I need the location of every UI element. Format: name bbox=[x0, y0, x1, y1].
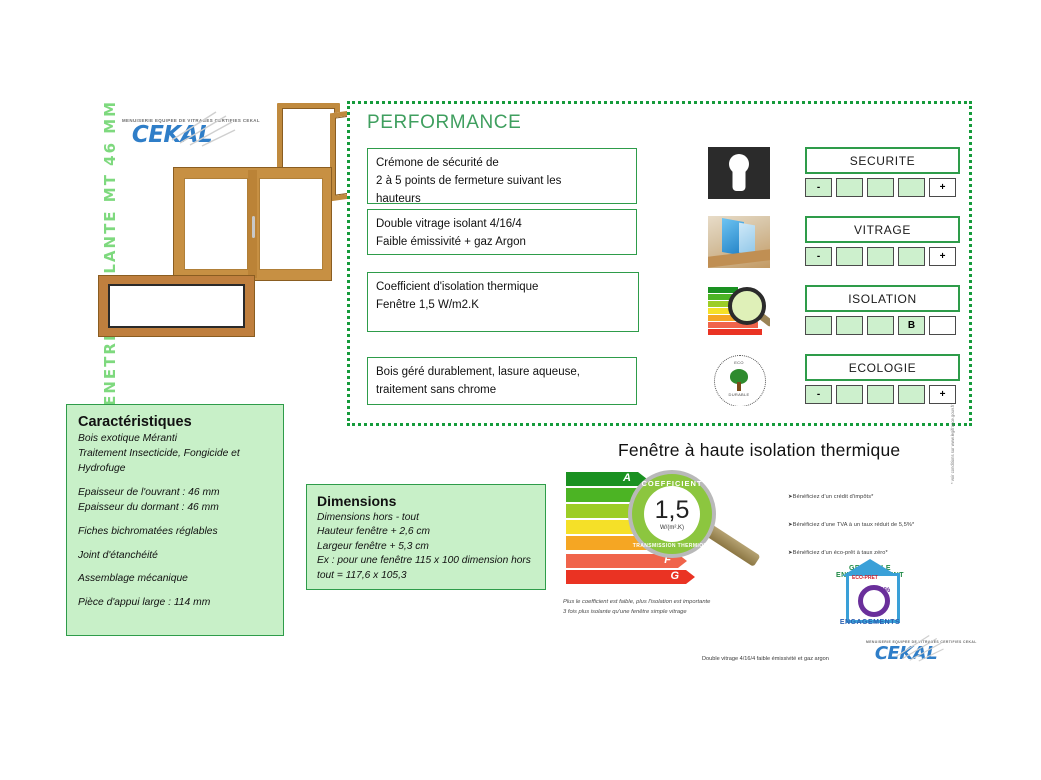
rating-cell[interactable]: + bbox=[929, 178, 956, 197]
glazing-note: Double vitrage 4/16/4 faible émissivité … bbox=[702, 656, 829, 662]
page-vertical-title: FENETRES ISOLANTE MT 46 MM bbox=[101, 99, 119, 419]
dimensions-title: Dimensions bbox=[317, 493, 535, 509]
dimensions-line: Ex : pour une fenêtre 115 x 100 dimensio… bbox=[317, 554, 535, 568]
performance-feature-box: Bois géré durablement, lasure aqueuse, t… bbox=[367, 357, 637, 405]
rating-cell[interactable] bbox=[898, 178, 925, 197]
coefficient-value-circle: 1,5 W/(m².K) bbox=[644, 486, 700, 542]
caracteristiques-panel: Caractéristiques Bois exotique Méranti T… bbox=[66, 404, 284, 636]
glazing-icon bbox=[708, 216, 770, 268]
caracteristiques-line: Pièce d'appui large : 114 mm bbox=[78, 596, 272, 611]
coefficient-value: 1,5 bbox=[655, 498, 690, 523]
eco-stamp-icon: ECO DURABLE bbox=[708, 354, 770, 406]
rating-cell-selected[interactable]: B bbox=[898, 316, 925, 335]
grenelle-environnement-logo: GRENELLE ENVIRONNEMENT ECO-PRET 0% ENGAG… bbox=[822, 557, 918, 633]
performance-feature-box: Crémone de sécurité de 2 à 5 points de f… bbox=[367, 148, 637, 204]
energy-magnifier-icon bbox=[708, 285, 770, 337]
rating-row-ecologie: ECO DURABLE ECOLOGIE - + bbox=[708, 354, 770, 406]
performance-panel: PERFORMANCE Crémone de sécurité de 2 à 5… bbox=[347, 101, 972, 426]
cekal-rays-icon bbox=[890, 634, 946, 664]
grenelle-word-bottom: ENGAGEMENTS bbox=[822, 619, 918, 626]
rating-cell[interactable] bbox=[898, 385, 925, 404]
coefficient-arc-top: COEFFICIENT bbox=[632, 479, 712, 488]
rating-cell[interactable] bbox=[805, 316, 832, 335]
rating-cell[interactable] bbox=[867, 316, 894, 335]
dimensions-line: Dimensions hors - tout bbox=[317, 511, 535, 525]
dimensions-line: tout = 117,6 x 105,3 bbox=[317, 569, 535, 583]
rating-label-isolation: ISOLATION bbox=[805, 285, 960, 312]
grenelle-percent: 0% bbox=[880, 587, 890, 594]
rating-cell[interactable] bbox=[867, 385, 894, 404]
cekal-rays-icon bbox=[166, 110, 236, 150]
eco-pret-label: ECO-PRET bbox=[852, 575, 878, 581]
rating-cell[interactable] bbox=[867, 247, 894, 266]
rating-row-vitrage: VITRAGE - + bbox=[708, 216, 770, 268]
window-double-casement-image bbox=[173, 167, 332, 281]
caracteristiques-line: Hydrofuge bbox=[78, 462, 272, 477]
window-transom-image bbox=[98, 275, 255, 337]
benefit-item: ➤Bénéficiez d'une TVA à un taux réduit d… bbox=[788, 522, 914, 528]
caracteristiques-line: Epaisseur de l'ouvrant : 46 mm bbox=[78, 486, 272, 501]
window-left-pane bbox=[184, 178, 248, 270]
rating-scale-isolation[interactable]: B bbox=[805, 316, 956, 335]
rating-label-ecologie: ECOLOGIE bbox=[805, 354, 960, 381]
rating-row-securite: SECURITE - + bbox=[708, 147, 770, 199]
rating-cell[interactable] bbox=[867, 178, 894, 197]
rating-cell[interactable]: + bbox=[929, 385, 956, 404]
legal-sidenote: * voir conditions sur www.legifrance.gou… bbox=[950, 404, 955, 484]
rating-scale-securite[interactable]: - + bbox=[805, 178, 956, 197]
window-handle-icon bbox=[252, 216, 255, 238]
caracteristiques-line: Bois exotique Méranti bbox=[78, 432, 272, 447]
performance-feature-box: Coefficient d'isolation thermique Fenêtr… bbox=[367, 272, 639, 332]
caracteristiques-line: Fiches bichromatées réglables bbox=[78, 525, 272, 540]
rating-cell[interactable] bbox=[836, 385, 863, 404]
cekal-logo-bottom: MENUISERIE EQUIPEE DE VITRAGES CERTIFIES… bbox=[866, 640, 946, 662]
rating-label-securite: SECURITE bbox=[805, 147, 960, 174]
window-right-pane bbox=[259, 178, 323, 270]
performance-feature-box: Double vitrage isolant 4/16/4 Faible émi… bbox=[367, 209, 637, 255]
rating-cell[interactable] bbox=[898, 247, 925, 266]
product-sheet-page: FENETRES ISOLANTE MT 46 MM MENUISERIE EQ… bbox=[0, 0, 1041, 780]
benefit-item: ➤Bénéficiez d'un crédit d'impôts* bbox=[788, 494, 914, 500]
rating-cell[interactable] bbox=[836, 316, 863, 335]
dimensions-line: Hauteur fenêtre + 2,6 cm bbox=[317, 525, 535, 539]
rating-cell[interactable] bbox=[929, 316, 956, 335]
rating-cell[interactable]: + bbox=[929, 247, 956, 266]
coefficient-unit: W/(m².K) bbox=[660, 525, 684, 531]
rating-cell[interactable] bbox=[836, 247, 863, 266]
caracteristiques-line: Traitement Insecticide, Fongicide et bbox=[78, 447, 272, 462]
energy-bar-letter: G bbox=[670, 570, 679, 582]
energy-bar-letter: A bbox=[623, 472, 631, 484]
energy-bar-a: A bbox=[566, 472, 638, 486]
rating-row-isolation: ISOLATION B bbox=[708, 285, 770, 337]
rating-cell[interactable]: - bbox=[805, 385, 832, 404]
benefit-item: ➤Bénéficiez d'un éco-prêt à taux zéro* bbox=[788, 550, 914, 556]
energy-bar-g: G bbox=[566, 570, 686, 584]
cekal-logo-top: MENUISERIE EQUIPEE DE VITRAGES CERTIFIES… bbox=[122, 118, 222, 146]
coefficient-magnifier: COEFFICIENT 1,5 W/(m².K) TRANSMISSION TH… bbox=[628, 470, 716, 558]
rating-cell[interactable]: - bbox=[805, 178, 832, 197]
rating-cell[interactable]: - bbox=[805, 247, 832, 266]
rating-scale-vitrage[interactable]: - + bbox=[805, 247, 956, 266]
dimensions-line: Largeur fenêtre + 5,3 cm bbox=[317, 540, 535, 554]
caracteristiques-line: Assemblage mécanique bbox=[78, 572, 272, 587]
caracteristiques-line: Epaisseur du dormant : 46 mm bbox=[78, 501, 272, 516]
rating-scale-ecologie[interactable]: - + bbox=[805, 385, 956, 404]
performance-title: PERFORMANCE bbox=[367, 112, 521, 134]
energy-label-caption: Plus le coefficient est faible, plus l'i… bbox=[563, 598, 710, 618]
caracteristiques-title: Caractéristiques bbox=[78, 414, 272, 430]
rating-label-vitrage: VITRAGE bbox=[805, 216, 960, 243]
thermal-section-title: Fenêtre à haute isolation thermique bbox=[618, 440, 900, 461]
coefficient-arc-bottom: TRANSMISSION THERMIQUE bbox=[632, 543, 712, 549]
keyhole-icon bbox=[708, 147, 770, 199]
window-transom-glass bbox=[108, 284, 245, 328]
energy-caption-line: Plus le coefficient est faible, plus l'i… bbox=[563, 598, 710, 608]
energy-caption-line: 3 fois plus isolante qu'une fenêtre simp… bbox=[563, 608, 710, 618]
rating-cell[interactable] bbox=[836, 178, 863, 197]
caracteristiques-line: Joint d'étanchéité bbox=[78, 549, 272, 564]
dimensions-panel: Dimensions Dimensions hors - tout Hauteu… bbox=[306, 484, 546, 590]
